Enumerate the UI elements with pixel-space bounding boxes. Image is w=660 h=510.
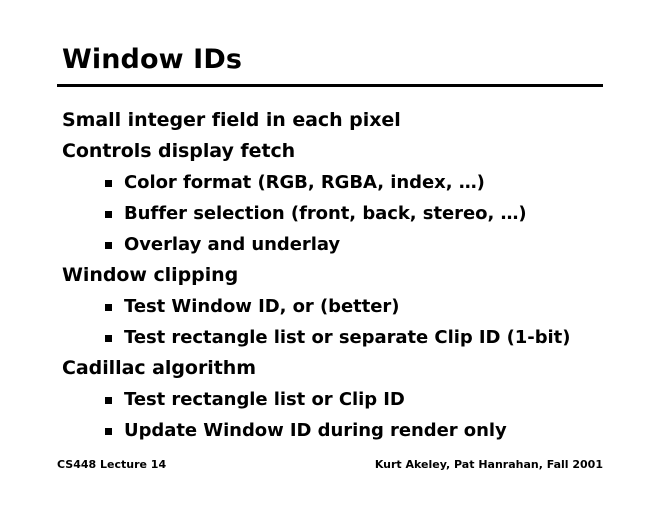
bullet-item-label: Update Window ID during render only (124, 420, 507, 441)
bullet-item-level1: Controls display fetch (0, 136, 660, 167)
square-bullet-icon (105, 211, 112, 218)
square-bullet-icon (105, 242, 112, 249)
bullet-item-level2: Color format (RGB, RGBA, index, …) (0, 167, 660, 198)
footer-authors-label: Kurt Akeley, Pat Hanrahan, Fall 2001 (375, 457, 603, 473)
slide-footer: CS448 Lecture 14 Kurt Akeley, Pat Hanrah… (57, 457, 603, 473)
bullet-item-level2: Test rectangle list or separate Clip ID … (0, 322, 660, 353)
square-bullet-icon (105, 397, 112, 404)
bullet-item-label: Controls display fetch (62, 140, 295, 162)
bullet-item-level1: Window clipping (0, 260, 660, 291)
bullet-item-label: Color format (RGB, RGBA, index, …) (124, 172, 485, 193)
bullet-item-label: Small integer field in each pixel (62, 109, 401, 131)
bullet-item-label: Buffer selection (front, back, stereo, …… (124, 203, 527, 224)
presentation-slide: Window IDs Small integer field in each p… (0, 0, 660, 510)
bullet-item-label: Test rectangle list or Clip ID (124, 389, 405, 410)
bullet-item-level1: Cadillac algorithm (0, 353, 660, 384)
square-bullet-icon (105, 335, 112, 342)
bullet-item-level2: Buffer selection (front, back, stereo, …… (0, 198, 660, 229)
bullet-item-level1: Small integer field in each pixel (0, 105, 660, 136)
bullet-item-level2: Test Window ID, or (better) (0, 291, 660, 322)
square-bullet-icon (105, 180, 112, 187)
slide-body: Small integer field in each pixelControl… (0, 105, 660, 446)
page-title: Window IDs (62, 44, 242, 76)
bullet-item-level2: Update Window ID during render only (0, 415, 660, 446)
footer-course-label: CS448 Lecture 14 (57, 457, 166, 473)
bullet-item-label: Test Window ID, or (better) (124, 296, 399, 317)
bullet-item-level2: Overlay and underlay (0, 229, 660, 260)
bullet-item-level2: Test rectangle list or Clip ID (0, 384, 660, 415)
bullet-item-label: Window clipping (62, 264, 238, 286)
bullet-item-label: Test rectangle list or separate Clip ID … (124, 327, 570, 348)
square-bullet-icon (105, 304, 112, 311)
title-divider (57, 84, 603, 87)
square-bullet-icon (105, 428, 112, 435)
bullet-item-label: Overlay and underlay (124, 234, 340, 255)
bullet-item-label: Cadillac algorithm (62, 357, 256, 379)
